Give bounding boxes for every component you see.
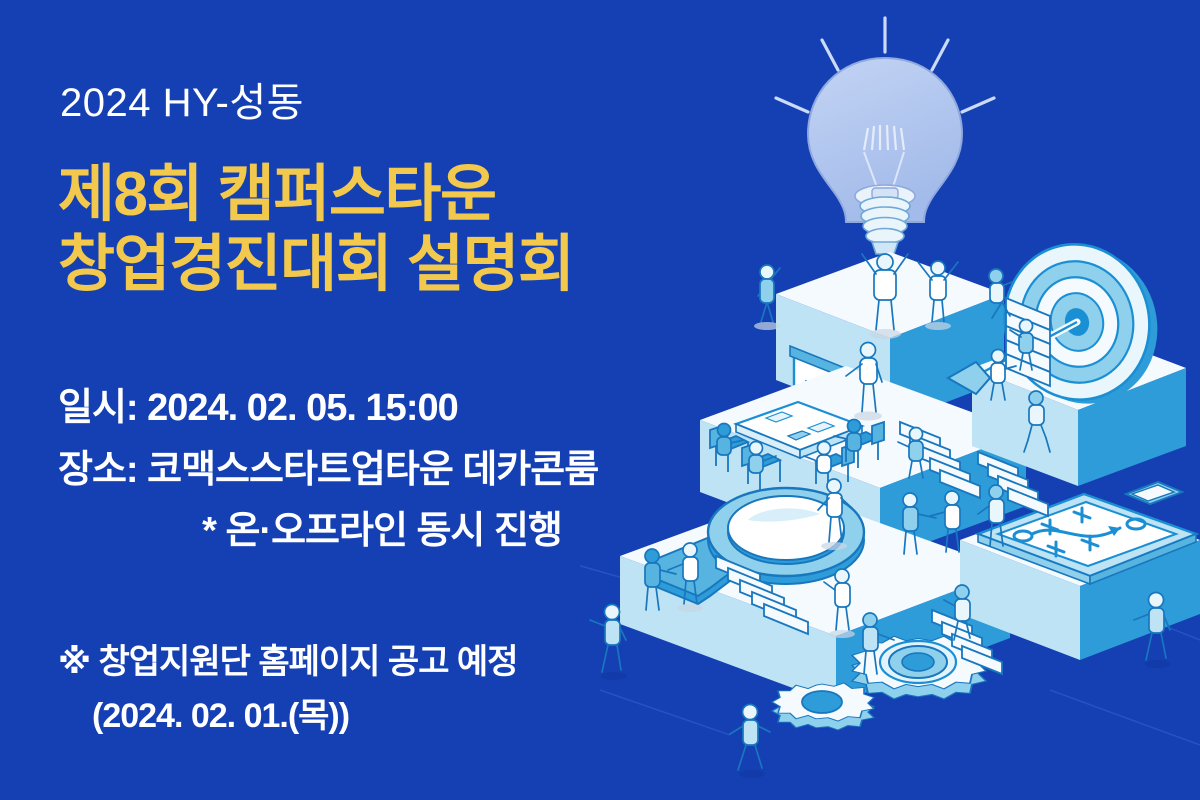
light-bulb-icon — [808, 58, 962, 254]
eyebrow-text: 2024 HY-성동 — [60, 83, 304, 123]
poster-canvas: 2024 HY-성동 제8회 캠퍼스타운 창업경진대회 설명회 일시: 2024… — [0, 0, 1200, 800]
page-title: 제8회 캠퍼스타운 창업경진대회 설명회 — [58, 160, 574, 300]
isometric-illustration — [580, 0, 1200, 800]
gear-small-icon — [772, 683, 874, 730]
title-line-2: 창업경진대회 설명회 — [58, 230, 574, 300]
title-line-1: 제8회 캠퍼스타운 — [58, 160, 574, 230]
